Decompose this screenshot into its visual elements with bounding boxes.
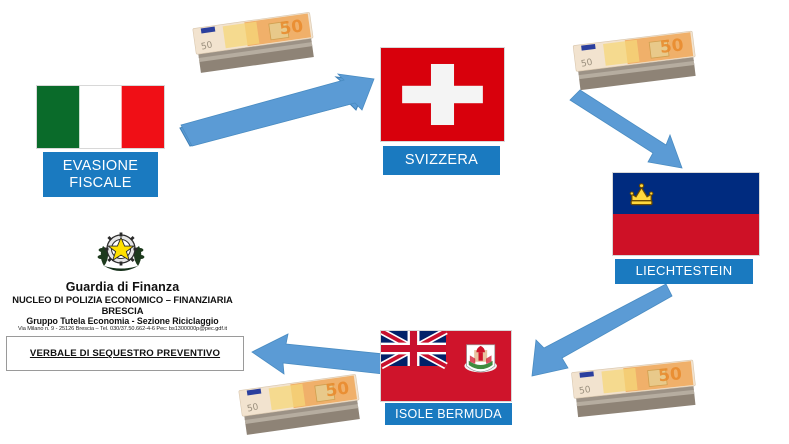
- svg-text:50: 50: [278, 16, 304, 39]
- node-label-text: SVIZZERA: [405, 152, 478, 168]
- flow-arrow-liechtenstein-bermuda: [524, 292, 674, 384]
- letterhead-line-unit: NUCLEO DI POLIZIA ECONOMICO – FINANZIARI…: [0, 294, 245, 316]
- letterhead-line-section: Gruppo Tutela Economia - Sezione Ricicla…: [0, 316, 245, 326]
- money-stack-top-left: 50 50: [186, 8, 326, 82]
- letterhead-block: Guardia di Finanza NUCLEO DI POLIZIA ECO…: [0, 280, 245, 332]
- node-label-text: LIECHTESTEIN: [636, 264, 733, 279]
- bermuda-flag-icon: [380, 330, 512, 402]
- flow-arrow-svizzera-liechtenstein: [578, 82, 696, 174]
- node-label-evasione-fiscale[interactable]: EVASIONE FISCALE: [43, 152, 158, 197]
- switzerland-flag-icon: [380, 47, 505, 142]
- svg-text:50: 50: [324, 378, 350, 401]
- flow-arrow-bermuda-guardia-di-finanza: [250, 330, 386, 380]
- letterhead-line-organisation: Guardia di Finanza: [0, 280, 245, 294]
- money-stack-bottom-left: 50 50: [232, 372, 372, 444]
- node-label-line-1: EVASIONE: [63, 158, 138, 174]
- document-verbale-box[interactable]: VERBALE DI SEQUESTRO PREVENTIVO: [6, 336, 244, 371]
- flow-arrow-italia-svizzera: [178, 76, 384, 148]
- svg-text:50: 50: [578, 385, 591, 397]
- italian-republic-emblem-icon: [95, 224, 147, 276]
- node-label-liechtestein[interactable]: LIECHTESTEIN: [615, 259, 753, 284]
- node-label-line-2: FISCALE: [69, 175, 132, 191]
- diagram-canvas: 50 50 50 50: [0, 0, 789, 444]
- document-title: VERBALE DI SEQUESTRO PREVENTIVO: [30, 348, 220, 359]
- letterhead-line-address: Via Milano n. 9 - 25126 Brescia – Tel. 0…: [0, 326, 245, 332]
- node-label-isole-bermuda[interactable]: ISOLE BERMUDA: [385, 403, 512, 425]
- node-label-text: ISOLE BERMUDA: [395, 407, 502, 421]
- italy-flag-icon: [36, 85, 165, 149]
- node-label-svizzera[interactable]: SVIZZERA: [383, 146, 500, 175]
- liechtenstein-flag-icon: [612, 172, 760, 256]
- svg-text:50: 50: [659, 35, 685, 58]
